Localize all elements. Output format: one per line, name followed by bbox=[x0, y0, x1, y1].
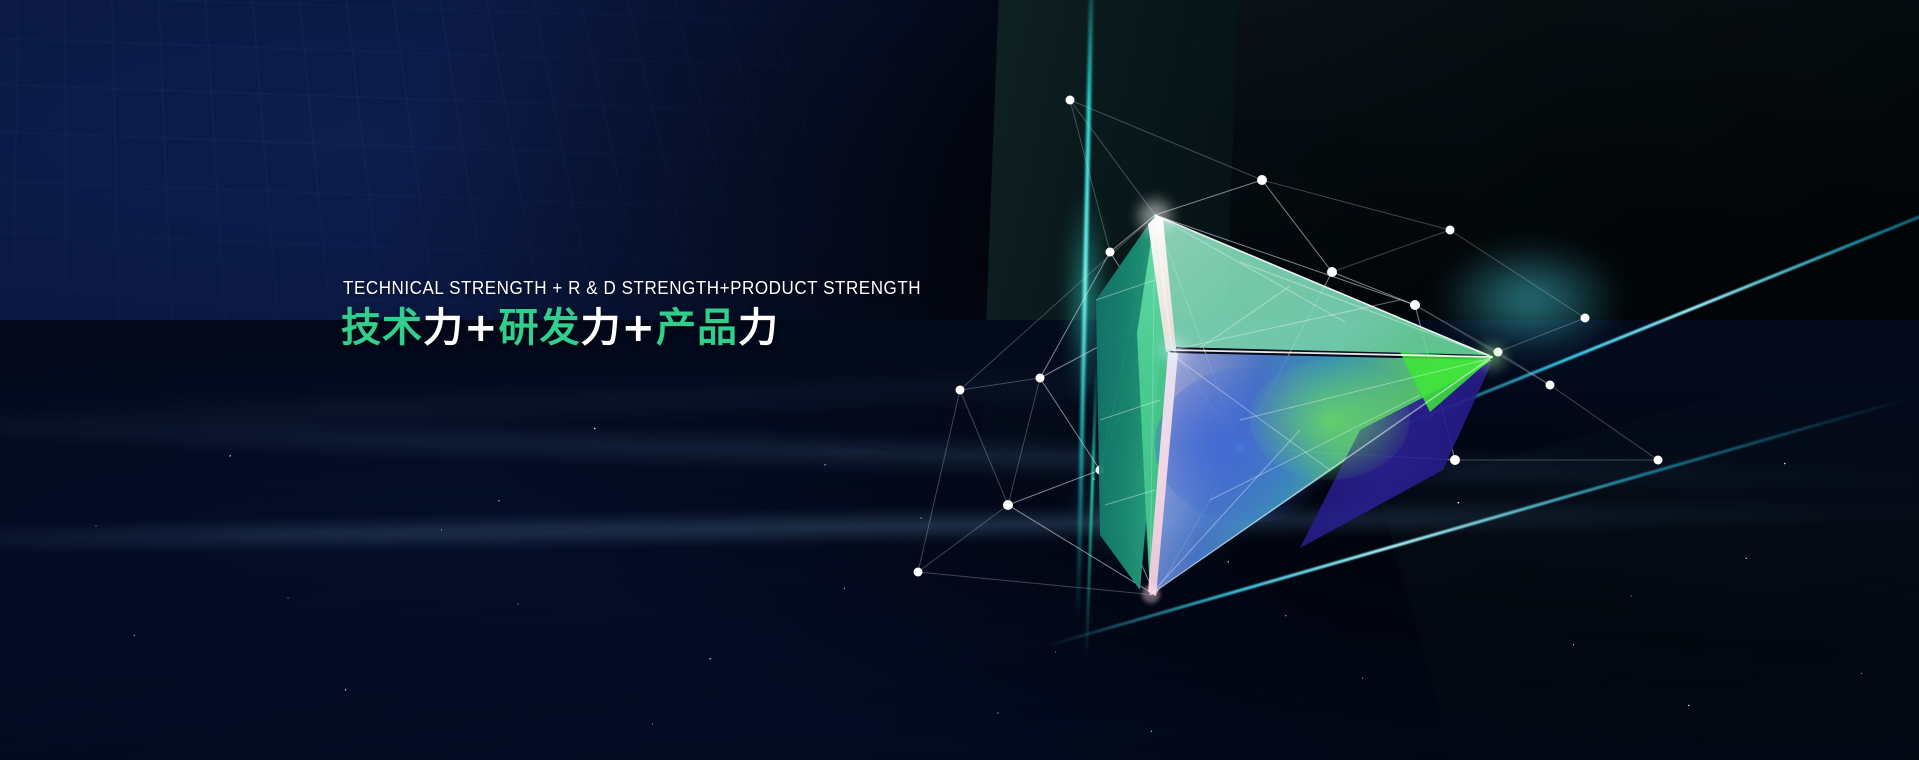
headline-segment-tech: 技术 bbox=[341, 305, 423, 351]
headline-segment-li-2: 力 bbox=[581, 305, 622, 351]
headline-plus-2: + bbox=[622, 305, 657, 351]
headline-segment-product: 产品 bbox=[656, 305, 738, 351]
wave-terrain bbox=[0, 320, 1919, 760]
headline-segment-li-1: 力 bbox=[423, 305, 464, 351]
headline-block: TECHNICAL STRENGTH + R & D STRENGTH+PROD… bbox=[341, 277, 1041, 351]
page-title: 技术力+研发力+产品力 bbox=[341, 306, 1041, 351]
top-seam-highlight bbox=[1020, 0, 1919, 120]
headline-segment-li-3: 力 bbox=[738, 305, 779, 351]
headline-plus-1: + bbox=[464, 305, 499, 351]
prism-apex-glow bbox=[1139, 200, 1171, 232]
eyebrow-text: TECHNICAL STRENGTH + R & D STRENGTH+PROD… bbox=[343, 277, 985, 299]
banner-stage: TECHNICAL STRENGTH + R & D STRENGTH+PROD… bbox=[0, 0, 1919, 760]
wave-crest-c bbox=[0, 483, 1919, 566]
headline-segment-rnd: 研发 bbox=[499, 305, 581, 351]
